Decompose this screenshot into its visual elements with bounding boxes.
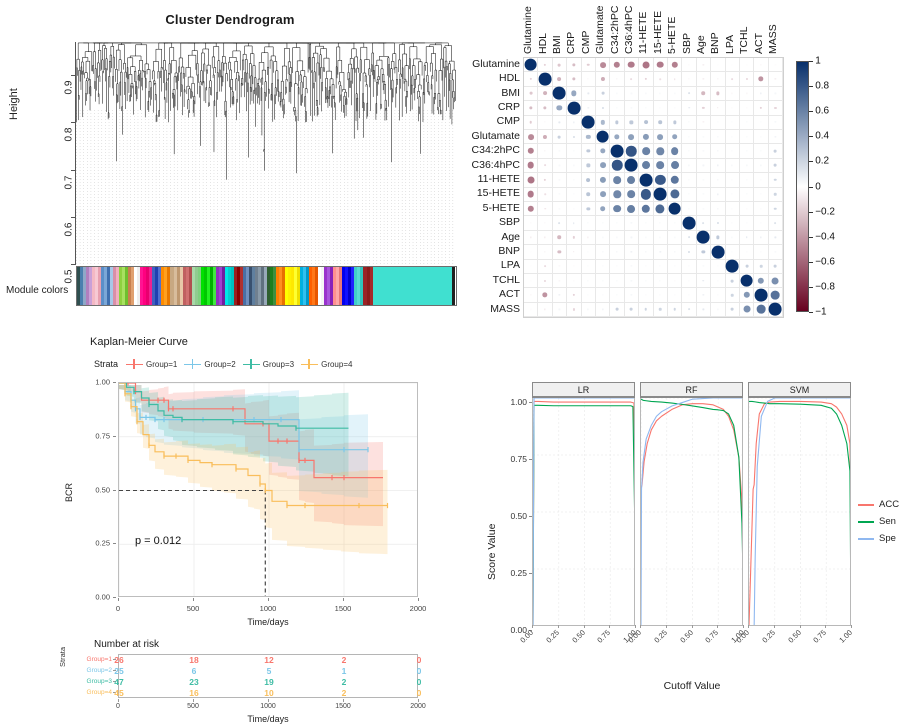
correlation-dot bbox=[557, 105, 562, 110]
correlation-cell bbox=[553, 173, 567, 187]
correlation-cell bbox=[596, 274, 610, 288]
correlation-cell bbox=[740, 274, 754, 288]
risk-x-tick-label: 2000 bbox=[410, 703, 426, 710]
correlation-cell bbox=[740, 144, 754, 158]
roc-y-tick-label: 1.00 bbox=[510, 397, 527, 407]
correlation-dot bbox=[688, 150, 689, 151]
kaplan-meier-legend-title: Strata bbox=[94, 359, 118, 369]
correlation-dot bbox=[760, 265, 763, 268]
correlation-cell bbox=[668, 159, 682, 173]
correlation-row-label: HDL bbox=[499, 73, 520, 84]
correlation-cell bbox=[524, 245, 538, 259]
correlation-row-label: BNP bbox=[498, 246, 520, 257]
correlation-cell bbox=[582, 260, 596, 274]
correlation-cell bbox=[740, 72, 754, 86]
module-color-band bbox=[412, 267, 419, 305]
correlation-dot bbox=[703, 78, 704, 79]
correlation-dot bbox=[743, 292, 749, 298]
correlation-dot bbox=[717, 165, 718, 166]
correlation-dot bbox=[586, 178, 590, 182]
correlation-dot bbox=[758, 76, 763, 81]
correlation-dot bbox=[688, 165, 689, 166]
correlation-cell bbox=[697, 144, 711, 158]
correlation-cell bbox=[524, 116, 538, 130]
correlation-cell bbox=[625, 288, 639, 302]
correlation-row-label: Glutamine bbox=[472, 59, 520, 70]
roc-x-tick-label: 0.25 bbox=[760, 628, 777, 645]
correlation-cell bbox=[538, 87, 552, 101]
correlation-dot bbox=[645, 308, 648, 311]
correlation-cell bbox=[625, 101, 639, 115]
correlation-dot bbox=[559, 280, 560, 281]
correlation-cell bbox=[625, 72, 639, 86]
risk-table: 261812202565104723192045161020 bbox=[118, 654, 418, 698]
km-legend-item[interactable]: Group=1 bbox=[126, 359, 177, 369]
correlation-cell bbox=[538, 159, 552, 173]
correlation-cell bbox=[553, 245, 567, 259]
correlation-cell bbox=[553, 202, 567, 216]
correlation-cell bbox=[524, 188, 538, 202]
correlation-column-label: CMP bbox=[580, 31, 592, 54]
km-y-tick bbox=[113, 382, 116, 383]
correlation-dot bbox=[527, 191, 534, 198]
roc-x-tick bbox=[640, 625, 641, 628]
correlation-dot bbox=[529, 106, 532, 109]
correlation-dot bbox=[656, 204, 665, 213]
correlation-cell bbox=[596, 87, 610, 101]
correlation-cell bbox=[668, 173, 682, 187]
correlation-dot bbox=[671, 61, 677, 67]
correlation-dot bbox=[731, 279, 734, 282]
km-legend-key bbox=[184, 359, 201, 369]
correlation-dot bbox=[544, 64, 546, 66]
correlation-cell bbox=[754, 116, 768, 130]
correlation-dot bbox=[601, 120, 605, 124]
correlation-cell bbox=[682, 188, 696, 202]
correlation-cell bbox=[582, 144, 596, 158]
correlation-cell bbox=[538, 202, 552, 216]
correlation-dot bbox=[672, 134, 678, 140]
correlation-cell bbox=[726, 173, 740, 187]
correlation-dot bbox=[539, 73, 552, 86]
correlation-cell bbox=[610, 144, 624, 158]
correlation-cell bbox=[726, 274, 740, 288]
correlation-cell bbox=[654, 87, 668, 101]
correlation-cell bbox=[726, 58, 740, 72]
correlation-cell bbox=[668, 144, 682, 158]
risk-table-cell: 25 bbox=[114, 666, 123, 677]
correlation-dot bbox=[731, 308, 734, 311]
correlation-dot bbox=[616, 308, 619, 311]
correlation-cell bbox=[711, 173, 725, 187]
correlation-dot bbox=[755, 289, 768, 302]
correlation-cell bbox=[682, 288, 696, 302]
module-colors-label: Module colors bbox=[6, 285, 68, 296]
risk-table-cell: 10 bbox=[264, 688, 273, 699]
correlation-dot bbox=[587, 149, 590, 152]
correlation-dot bbox=[567, 101, 580, 114]
correlation-cell bbox=[625, 274, 639, 288]
dendrogram-svg bbox=[76, 42, 456, 264]
module-color-band bbox=[406, 267, 413, 305]
km-y-tick bbox=[113, 597, 116, 598]
module-color-band bbox=[439, 267, 446, 305]
correlation-dot bbox=[659, 308, 662, 311]
roc-x-tick bbox=[609, 625, 610, 628]
correlation-dot bbox=[769, 303, 782, 316]
module-color-band bbox=[386, 267, 393, 305]
correlation-cell bbox=[711, 274, 725, 288]
correlation-dot bbox=[717, 64, 718, 65]
correlation-dot bbox=[628, 61, 635, 68]
correlation-dot bbox=[703, 150, 704, 151]
correlation-dot bbox=[674, 78, 676, 80]
correlation-dot bbox=[775, 136, 776, 137]
risk-table-cell: 18 bbox=[189, 655, 198, 666]
correlation-dot bbox=[688, 194, 689, 195]
correlation-dot bbox=[740, 274, 753, 287]
correlation-cell bbox=[740, 231, 754, 245]
correlation-cell bbox=[711, 58, 725, 72]
correlation-dot bbox=[732, 165, 733, 166]
risk-table-cell: 16 bbox=[189, 688, 198, 699]
roc-facet-plot bbox=[640, 398, 743, 626]
risk-table-x-axis: 0500100015002000 bbox=[118, 699, 418, 713]
correlation-dot bbox=[611, 145, 624, 158]
correlation-dot bbox=[657, 61, 664, 68]
correlation-dot bbox=[674, 93, 675, 94]
roc-facet-strip-label: SVM bbox=[748, 382, 851, 398]
correlation-column-label: HDL bbox=[537, 33, 549, 54]
correlation-cell bbox=[726, 231, 740, 245]
correlation-cell bbox=[654, 116, 668, 130]
correlation-cell bbox=[769, 87, 783, 101]
roc-legend-label: Sen bbox=[879, 516, 896, 527]
correlation-dot bbox=[703, 208, 704, 209]
correlation-dot bbox=[628, 190, 636, 198]
correlation-cell bbox=[639, 101, 653, 115]
correlation-dot bbox=[630, 121, 633, 124]
correlation-dot bbox=[616, 107, 617, 108]
correlation-cell bbox=[711, 202, 725, 216]
km-legend-item[interactable]: Group=3 bbox=[243, 359, 294, 369]
correlation-cell bbox=[754, 274, 768, 288]
correlation-dot bbox=[600, 191, 606, 197]
correlation-cell bbox=[553, 260, 567, 274]
km-x-tick-label: 2000 bbox=[410, 604, 427, 613]
correlation-dot bbox=[559, 222, 561, 224]
correlation-dot bbox=[717, 179, 718, 180]
correlation-dot bbox=[616, 280, 617, 281]
module-color-band bbox=[393, 267, 400, 305]
module-color-band bbox=[379, 267, 386, 305]
risk-table-cell: 2 bbox=[342, 655, 347, 666]
correlation-legend-tick bbox=[809, 136, 813, 137]
correlation-cell bbox=[639, 144, 653, 158]
correlation-dot bbox=[553, 87, 566, 100]
correlation-cell bbox=[639, 245, 653, 259]
risk-table-x-axis-label: Time/days bbox=[118, 714, 418, 724]
correlation-cell bbox=[567, 288, 581, 302]
risk-x-tick-label: 1500 bbox=[335, 703, 351, 710]
correlation-cell bbox=[524, 87, 538, 101]
correlation-dot bbox=[760, 251, 761, 252]
correlation-cell bbox=[769, 216, 783, 230]
correlation-cell bbox=[567, 173, 581, 187]
correlation-cell bbox=[769, 130, 783, 144]
correlation-dot bbox=[645, 107, 646, 108]
km-y-tick-label: 0.25 bbox=[95, 539, 110, 548]
correlation-dot bbox=[602, 107, 604, 109]
roc-facet-x-axis: 0.000.250.500.751.00 bbox=[532, 626, 635, 666]
correlation-dot bbox=[631, 237, 632, 238]
correlation-dot bbox=[588, 237, 589, 238]
correlation-dot bbox=[668, 202, 681, 215]
correlation-dot bbox=[658, 120, 662, 124]
correlation-column-label: 5-HETE bbox=[666, 17, 678, 54]
correlation-dot bbox=[760, 208, 761, 209]
correlation-dot bbox=[643, 134, 649, 140]
correlation-cell bbox=[769, 231, 783, 245]
correlation-cell bbox=[740, 130, 754, 144]
correlation-dot bbox=[670, 176, 678, 184]
correlation-dot bbox=[544, 265, 546, 267]
correlation-dot bbox=[642, 204, 650, 212]
correlation-cell bbox=[567, 216, 581, 230]
correlation-dot bbox=[559, 179, 560, 180]
correlation-dot bbox=[697, 231, 710, 244]
km-legend-item[interactable]: Group=2 bbox=[184, 359, 235, 369]
risk-x-tick bbox=[343, 699, 344, 702]
correlation-cell bbox=[769, 101, 783, 115]
correlation-dot bbox=[758, 277, 764, 283]
correlation-cell bbox=[625, 144, 639, 158]
correlation-cell bbox=[754, 202, 768, 216]
correlation-cell bbox=[711, 303, 725, 317]
correlation-cell bbox=[654, 231, 668, 245]
correlation-dot bbox=[774, 265, 777, 268]
correlation-cell bbox=[668, 231, 682, 245]
correlation-dot bbox=[660, 237, 661, 238]
correlation-cell bbox=[726, 188, 740, 202]
correlation-cell bbox=[610, 101, 624, 115]
correlation-dot bbox=[573, 179, 574, 180]
correlation-dot bbox=[616, 266, 617, 267]
correlation-cell bbox=[726, 245, 740, 259]
correlation-dot bbox=[616, 237, 617, 238]
correlation-cell bbox=[610, 245, 624, 259]
risk-table-cell: 0 bbox=[417, 688, 422, 699]
correlation-cell bbox=[567, 274, 581, 288]
correlation-grid bbox=[523, 57, 784, 318]
correlation-dot bbox=[616, 222, 617, 223]
correlation-cell bbox=[524, 101, 538, 115]
correlation-dot bbox=[703, 309, 704, 310]
roc-legend-item[interactable]: ACC bbox=[858, 496, 899, 513]
correlation-cell bbox=[582, 87, 596, 101]
correlation-cell bbox=[711, 288, 725, 302]
correlation-cell bbox=[711, 159, 725, 173]
correlation-dot bbox=[760, 222, 761, 223]
correlation-dot bbox=[660, 294, 661, 295]
correlation-dot bbox=[688, 251, 690, 253]
correlation-dot bbox=[573, 208, 574, 209]
km-x-tick-label: 0 bbox=[116, 604, 120, 613]
correlation-cell bbox=[639, 231, 653, 245]
correlation-cell bbox=[524, 58, 538, 72]
correlation-cell bbox=[610, 159, 624, 173]
correlation-cell bbox=[726, 116, 740, 130]
correlation-dot bbox=[558, 135, 561, 138]
km-x-tick bbox=[118, 598, 119, 601]
correlation-dot bbox=[674, 266, 675, 267]
roc-x-tick bbox=[851, 625, 852, 628]
correlation-cell bbox=[726, 288, 740, 302]
correlation-cell bbox=[654, 245, 668, 259]
correlation-dot bbox=[544, 122, 545, 123]
correlation-cell bbox=[596, 173, 610, 187]
correlation-cell bbox=[769, 58, 783, 72]
correlation-cell bbox=[754, 72, 768, 86]
risk-table-cell: 19 bbox=[264, 677, 273, 688]
correlation-legend-tick bbox=[809, 262, 813, 263]
correlation-cell bbox=[754, 288, 768, 302]
correlation-dot bbox=[745, 265, 748, 268]
risk-table-row: 256510 bbox=[119, 666, 417, 677]
kaplan-meier-pvalue: p = 0.012 bbox=[135, 535, 181, 547]
correlation-dot bbox=[732, 222, 733, 223]
correlation-dot bbox=[760, 136, 761, 137]
roc-x-tick-label: 0.25 bbox=[544, 628, 561, 645]
roc-legend-key bbox=[858, 538, 874, 540]
correlation-cell bbox=[610, 260, 624, 274]
correlation-cell bbox=[726, 101, 740, 115]
risk-table-cell: 23 bbox=[189, 677, 198, 688]
correlation-dot bbox=[558, 63, 561, 66]
correlation-dot bbox=[760, 93, 761, 94]
dendrogram-tick-label: 0.8 bbox=[64, 122, 75, 148]
correlation-row-label: C34:2hPC bbox=[472, 145, 520, 156]
correlation-cell bbox=[654, 274, 668, 288]
correlation-dot bbox=[530, 280, 531, 281]
correlation-cell bbox=[538, 245, 552, 259]
correlation-row-label: Glutamate bbox=[472, 131, 520, 142]
correlation-cell bbox=[654, 216, 668, 230]
correlation-dot bbox=[674, 294, 675, 295]
roc-x-tick-label: 0.25 bbox=[652, 628, 669, 645]
roc-legend-item[interactable]: Sen bbox=[858, 513, 899, 530]
kaplan-meier-svg bbox=[119, 383, 418, 597]
correlation-column-labels: GlutamineHDLBMICRPCMPGlutamateC34:2hPCC3… bbox=[523, 0, 782, 57]
correlation-dot bbox=[688, 64, 689, 65]
correlation-dot bbox=[573, 280, 574, 281]
correlation-dot bbox=[529, 92, 532, 95]
correlation-cell bbox=[697, 188, 711, 202]
correlation-cell bbox=[553, 72, 567, 86]
correlation-dot bbox=[717, 280, 718, 281]
correlation-cell bbox=[553, 274, 567, 288]
correlation-dot bbox=[731, 294, 734, 297]
correlation-dot bbox=[559, 122, 560, 123]
correlation-cell bbox=[754, 188, 768, 202]
correlation-cell bbox=[754, 144, 768, 158]
correlation-dot bbox=[688, 237, 690, 239]
correlation-legend-label: −0.6 bbox=[815, 256, 835, 267]
correlation-dot bbox=[688, 294, 689, 295]
module-color-band bbox=[452, 267, 455, 305]
correlation-cell bbox=[538, 303, 552, 317]
correlation-dot bbox=[602, 309, 603, 310]
correlation-cell bbox=[524, 202, 538, 216]
correlation-cell bbox=[697, 245, 711, 259]
correlation-cell bbox=[610, 202, 624, 216]
correlation-cell bbox=[596, 144, 610, 158]
correlation-dot bbox=[717, 222, 719, 224]
kaplan-meier-title: Kaplan-Meier Curve bbox=[90, 336, 188, 348]
correlation-cell bbox=[769, 260, 783, 274]
correlation-legend-tick bbox=[809, 111, 813, 112]
risk-table-row-labels: Group=1Group=2Group=3Group=4 bbox=[60, 654, 116, 698]
correlation-dot bbox=[774, 179, 777, 182]
correlation-dot bbox=[645, 222, 646, 223]
correlation-dot bbox=[746, 194, 747, 195]
correlation-column-label: 15-HETE bbox=[652, 11, 664, 54]
correlation-cell bbox=[726, 202, 740, 216]
correlation-dot bbox=[645, 294, 646, 295]
correlation-dot bbox=[703, 194, 704, 195]
correlation-cell bbox=[740, 188, 754, 202]
correlation-cell bbox=[567, 130, 581, 144]
correlation-cell bbox=[596, 202, 610, 216]
correlation-dot bbox=[746, 122, 747, 123]
roc-legend-item[interactable]: Spe bbox=[858, 530, 899, 547]
correlation-cell bbox=[726, 72, 740, 86]
correlation-cell bbox=[682, 116, 696, 130]
correlation-cell bbox=[654, 260, 668, 274]
correlation-dot bbox=[732, 150, 733, 151]
correlation-cell bbox=[769, 303, 783, 317]
correlation-dot bbox=[717, 294, 718, 295]
correlation-cell bbox=[567, 231, 581, 245]
correlation-dot bbox=[600, 163, 606, 169]
correlation-cell bbox=[524, 288, 538, 302]
correlation-cell bbox=[639, 116, 653, 130]
correlation-cell bbox=[654, 101, 668, 115]
correlation-cell bbox=[596, 231, 610, 245]
correlation-dot bbox=[613, 176, 621, 184]
correlation-dot bbox=[529, 121, 532, 124]
correlation-dot bbox=[544, 165, 546, 167]
km-legend-label: Group=2 bbox=[204, 360, 235, 369]
correlation-dot bbox=[717, 266, 718, 267]
correlation-cell bbox=[668, 303, 682, 317]
correlation-cell bbox=[567, 72, 581, 86]
correlation-dot bbox=[588, 266, 589, 267]
correlation-dot bbox=[760, 237, 761, 238]
correlation-dot bbox=[573, 122, 574, 123]
correlation-dot bbox=[660, 78, 662, 80]
correlation-row-label: SBP bbox=[499, 217, 520, 228]
roc-facet-rf: RF0.000.250.500.751.00 bbox=[640, 382, 743, 666]
correlation-dot bbox=[528, 134, 534, 140]
dendrogram-tick-label: 0.6 bbox=[64, 216, 75, 242]
correlation-cell bbox=[582, 173, 596, 187]
km-legend-item[interactable]: Group=4 bbox=[301, 359, 352, 369]
roc-facet-plot bbox=[748, 398, 851, 626]
correlation-dot bbox=[600, 177, 606, 183]
correlation-cell bbox=[682, 274, 696, 288]
correlation-dot bbox=[717, 107, 719, 109]
